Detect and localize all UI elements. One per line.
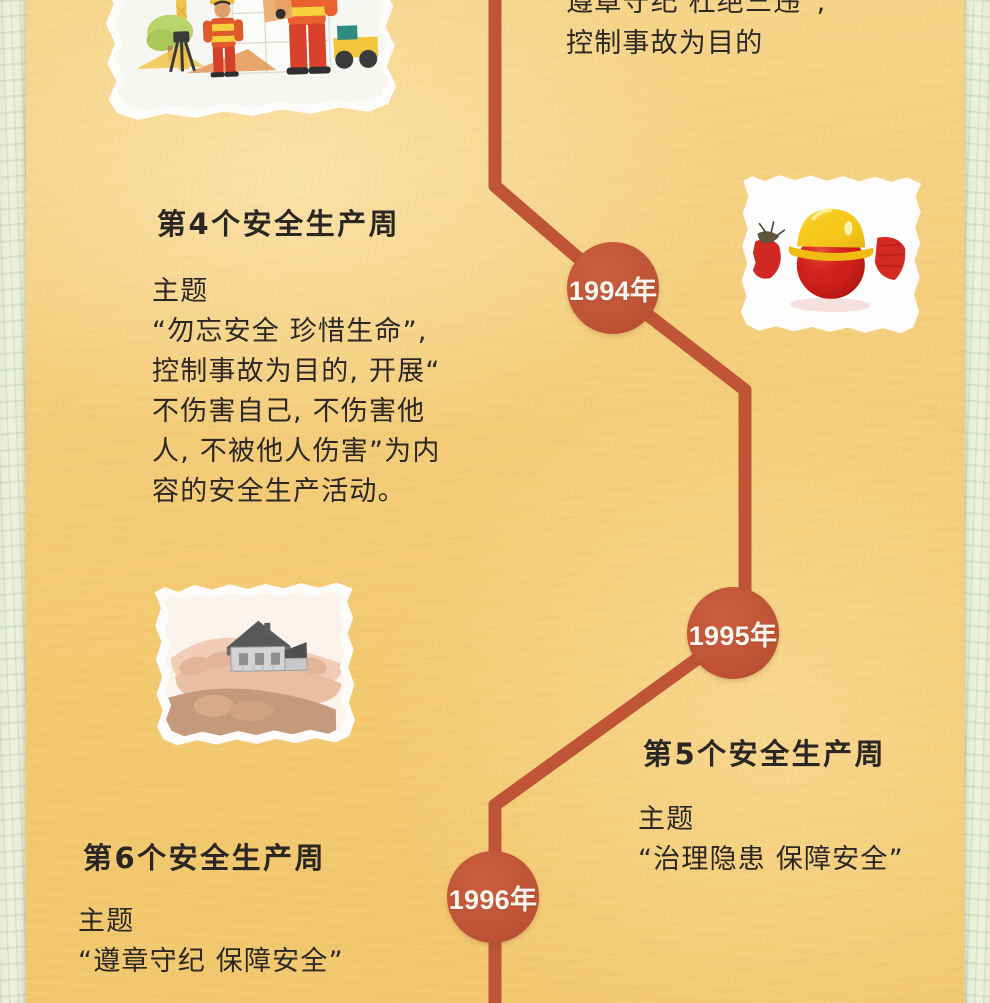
construction-illustration: [112, 0, 387, 112]
page-border-left: [0, 0, 26, 1003]
timeline-node-1995-label: 1995年: [689, 614, 778, 653]
page-border-right: [964, 0, 990, 1003]
photo-hands-house: [155, 582, 356, 745]
timeline-node-1994[interactable]: 1994年: [567, 242, 659, 334]
photo-construction-site: [103, 0, 397, 121]
entry-week-6-heading: 第6个安全生产周: [78, 840, 331, 877]
timeline-node-1996-label: 1996年: [449, 878, 538, 917]
infographic-page: 1994年 1995年 1996年: [0, 0, 990, 1003]
photo-hands-house-image: [164, 591, 346, 736]
entry-week-5-heading-text: 第5个安全生产周: [638, 736, 891, 773]
timeline-segment-2: [613, 288, 745, 633]
photo-hardhat-tomato: [741, 174, 922, 333]
entry-week-5-body: 主题 “治理隐患 保障安全”: [638, 800, 978, 880]
entry-week-5-heading: 第5个安全生产周: [638, 736, 891, 773]
entry-week-4-body: 主题 “勿忘安全 珍惜生命”, 控制事故为目的, 开展“ 不伤害自己, 不伤害他…: [152, 272, 512, 512]
timeline-node-1995[interactable]: 1995年: [687, 587, 779, 679]
entry-week-3-continued-body: 遵章守纪 杜绝三违”, 控制事故为目的: [566, 0, 966, 64]
entry-week-6-body: 主题 “遵章守纪 保障安全”: [78, 902, 438, 982]
entry-week-4-heading: 第4个安全生产周: [152, 206, 405, 243]
entry-week-6-heading-text: 第6个安全生产周: [78, 840, 331, 877]
hands-house-illustration: [164, 591, 346, 736]
hardhat-tomato-illustration: [750, 184, 912, 325]
timeline-node-1994-label: 1994年: [569, 269, 658, 308]
photo-hardhat-tomato-image: [750, 184, 912, 325]
photo-construction-site-image: [112, 0, 387, 112]
entry-week-4-heading-text: 第4个安全生产周: [152, 206, 405, 243]
timeline-node-1996[interactable]: 1996年: [447, 851, 539, 943]
